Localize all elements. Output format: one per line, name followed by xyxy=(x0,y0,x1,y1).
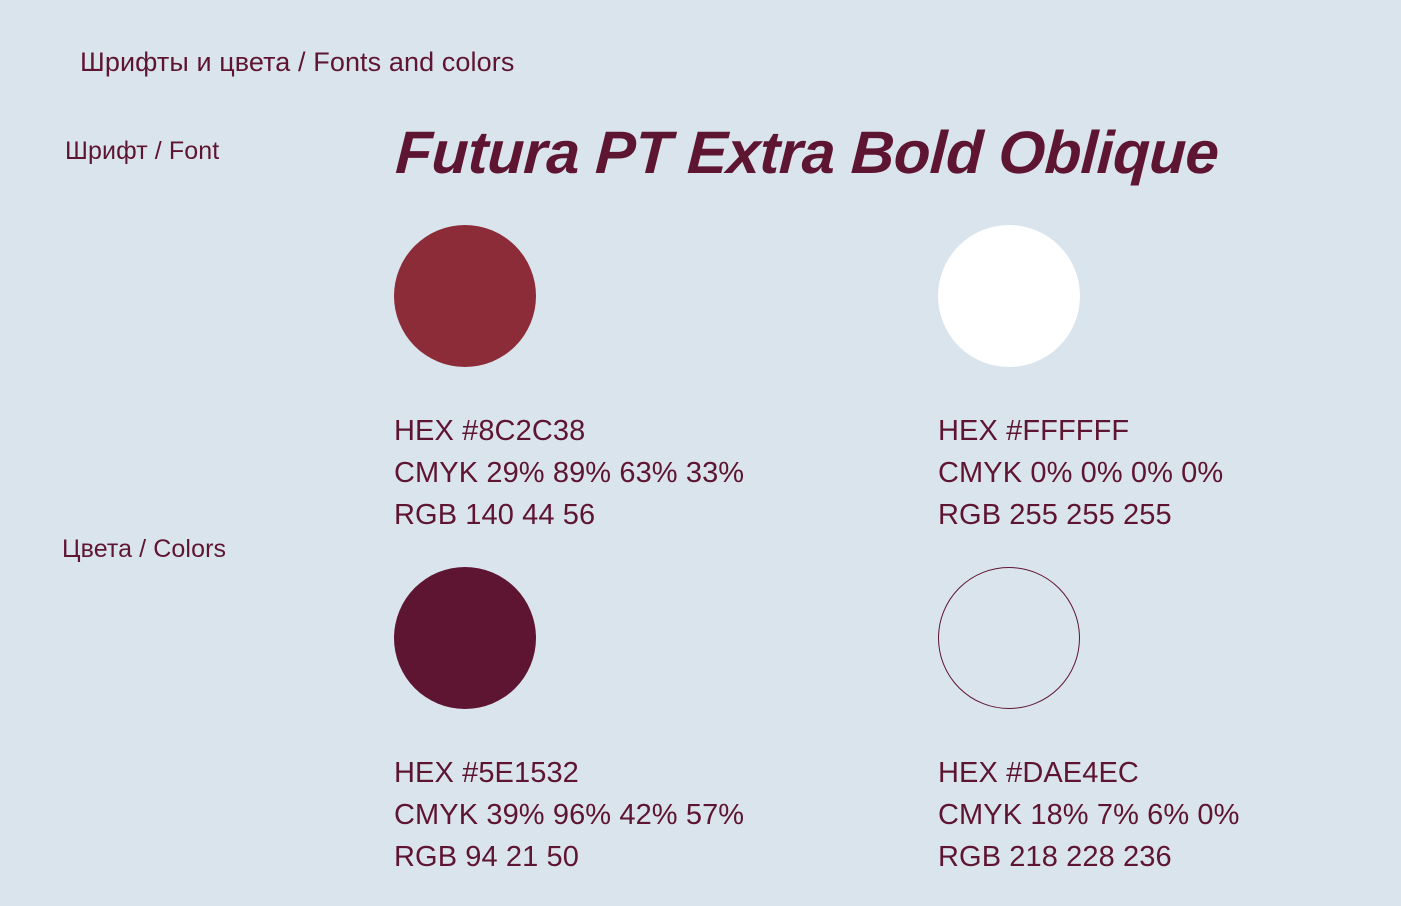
color-cmyk-value: CMYK 29% 89% 63% 33% xyxy=(394,452,794,494)
color-rgb-value: RGB 218 228 236 xyxy=(938,836,1338,878)
color-swatch: HEX #8C2C38 CMYK 29% 89% 63% 33% RGB 140… xyxy=(394,225,794,536)
color-swatch-info: HEX #DAE4EC CMYK 18% 7% 6% 0% RGB 218 22… xyxy=(938,752,1338,878)
color-rgb-value: RGB 255 255 255 xyxy=(938,494,1338,536)
color-swatch: HEX #FFFFFF CMYK 0% 0% 0% 0% RGB 255 255… xyxy=(938,225,1338,536)
colors-section-label: Цвета / Colors xyxy=(62,535,226,564)
color-rgb-value: RGB 94 21 50 xyxy=(394,836,794,878)
color-swatch-info: HEX #FFFFFF CMYK 0% 0% 0% 0% RGB 255 255… xyxy=(938,410,1338,536)
color-swatch-circle xyxy=(394,567,536,709)
color-swatch-circle xyxy=(938,225,1080,367)
page-title: Шрифты и цвета / Fonts and colors xyxy=(80,47,514,78)
color-hex-value: HEX #5E1532 xyxy=(394,752,794,794)
brand-style-guide-page: Шрифты и цвета / Fonts and colors Шрифт … xyxy=(0,0,1401,906)
color-swatch-info: HEX #5E1532 CMYK 39% 96% 42% 57% RGB 94 … xyxy=(394,752,794,878)
color-cmyk-value: CMYK 18% 7% 6% 0% xyxy=(938,794,1338,836)
color-hex-value: HEX #8C2C38 xyxy=(394,410,794,452)
color-swatch-circle xyxy=(394,225,536,367)
font-section-label: Шрифт / Font xyxy=(65,137,219,166)
color-swatch: HEX #5E1532 CMYK 39% 96% 42% 57% RGB 94 … xyxy=(394,567,794,878)
font-specimen-sample: Futura PT Extra Bold Oblique xyxy=(394,118,1220,188)
color-swatch-info: HEX #8C2C38 CMYK 29% 89% 63% 33% RGB 140… xyxy=(394,410,794,536)
color-cmyk-value: CMYK 0% 0% 0% 0% xyxy=(938,452,1338,494)
color-rgb-value: RGB 140 44 56 xyxy=(394,494,794,536)
color-hex-value: HEX #FFFFFF xyxy=(938,410,1338,452)
color-hex-value: HEX #DAE4EC xyxy=(938,752,1338,794)
color-swatch: HEX #DAE4EC CMYK 18% 7% 6% 0% RGB 218 22… xyxy=(938,567,1338,878)
color-swatch-circle xyxy=(938,567,1080,709)
color-cmyk-value: CMYK 39% 96% 42% 57% xyxy=(394,794,794,836)
